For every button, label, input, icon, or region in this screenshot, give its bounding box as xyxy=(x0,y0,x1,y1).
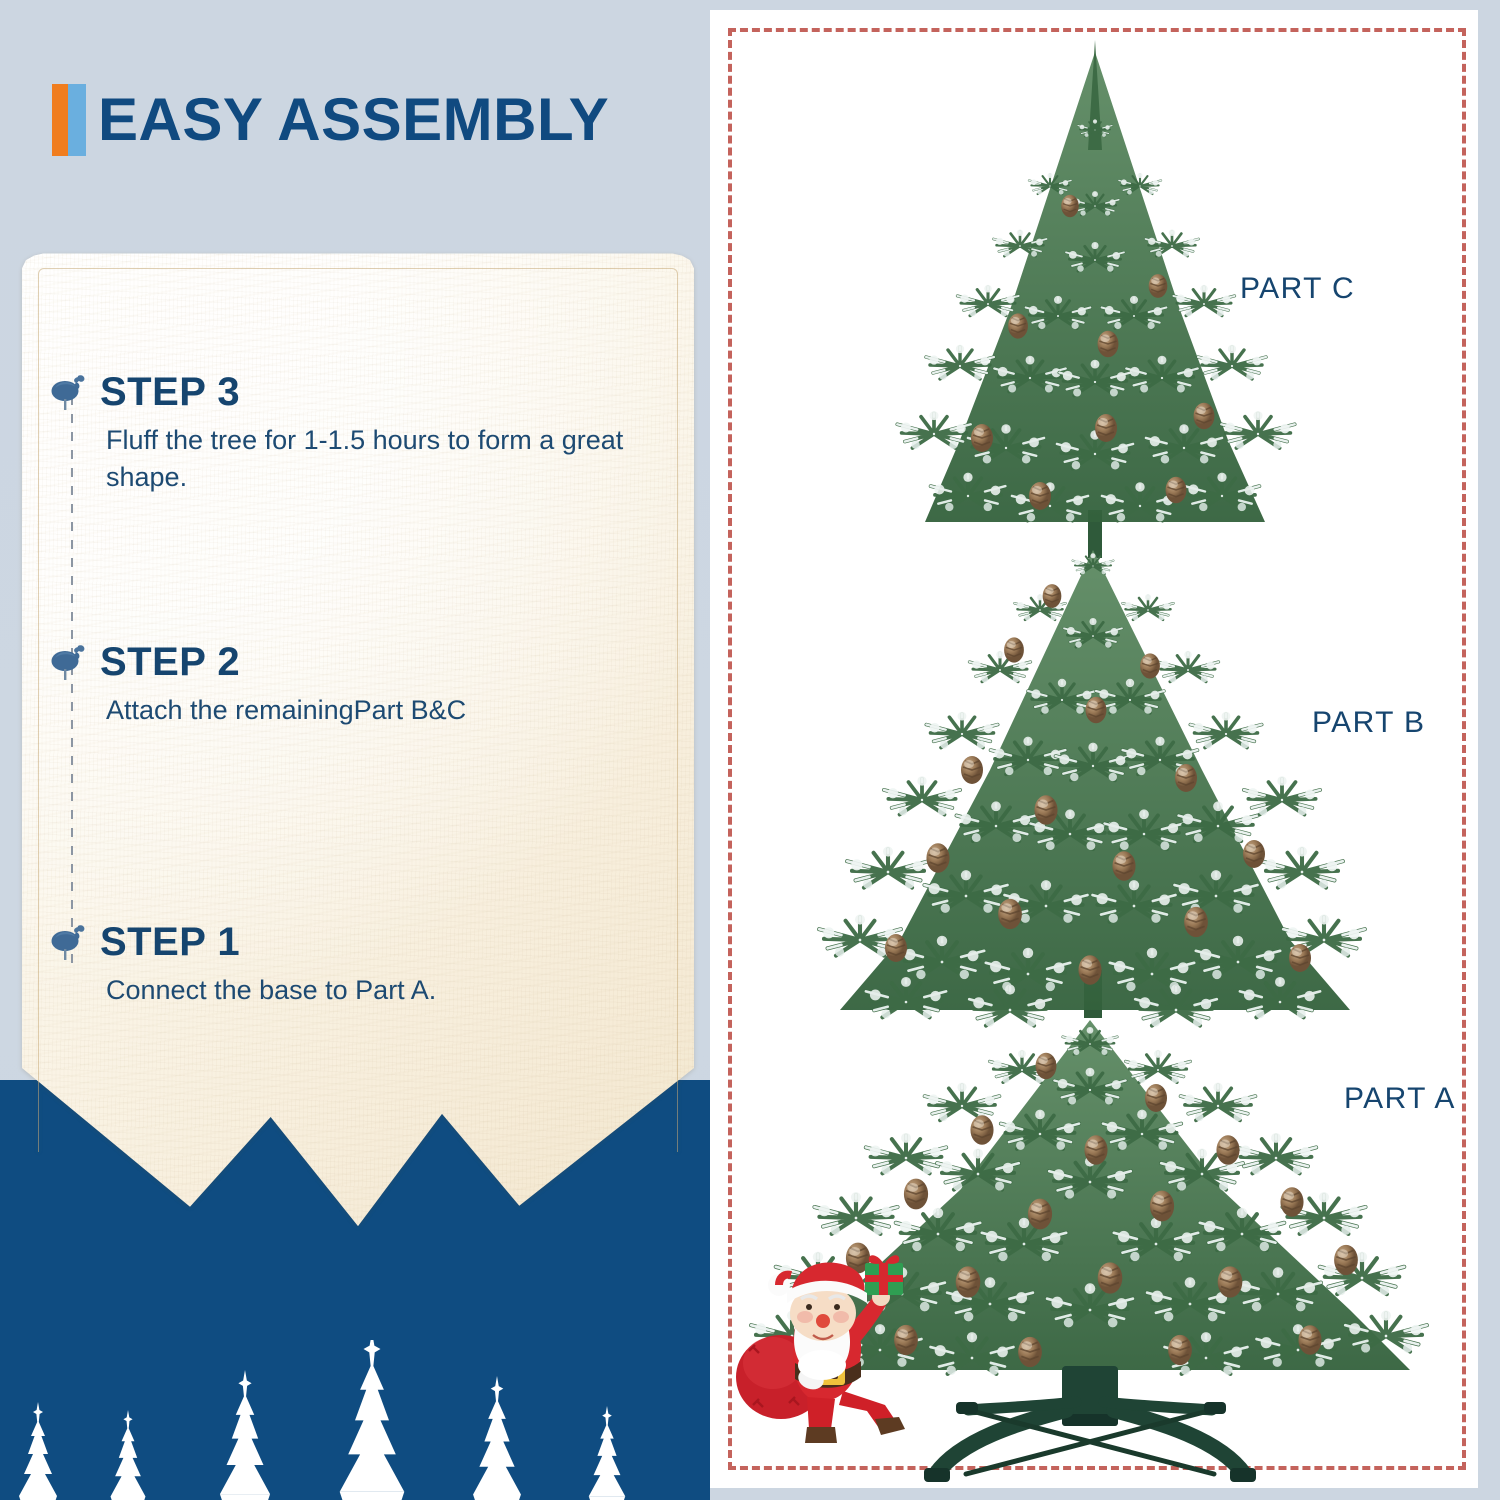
step-2-header: STEP 2 xyxy=(48,638,668,684)
step-1-description: Connect the base to Part A. xyxy=(106,972,668,1009)
step-3-header: STEP 3 xyxy=(48,368,668,414)
bell-marker-icon xyxy=(48,638,92,682)
page-title-row: EASY ASSEMBLY xyxy=(52,84,609,156)
orange-accent-bar xyxy=(52,84,68,156)
page-title: EASY ASSEMBLY xyxy=(98,84,609,156)
step-2-description: Attach the remainingPart B&C xyxy=(106,692,668,729)
part-a-label: PART A xyxy=(1344,1082,1456,1116)
silhouette-tree-row xyxy=(0,1340,710,1500)
tree-part-b xyxy=(819,550,1365,1027)
infographic-stage: EASY ASSEMBLY STEP 3 Flu xyxy=(0,0,1500,1500)
step-3-description: Fluff the tree for 1-1.5 hours to form a… xyxy=(106,422,668,496)
step-1-title: STEP 1 xyxy=(100,920,240,964)
step-item-3: STEP 3 Fluff the tree for 1-1.5 hours to… xyxy=(48,368,668,496)
bell-marker-icon xyxy=(48,918,92,962)
part-b-label: PART B xyxy=(1312,706,1425,740)
blue-accent-bar xyxy=(68,84,86,156)
part-c-label: PART C xyxy=(1240,272,1355,306)
santa-claus-figure xyxy=(735,1251,920,1466)
step-item-1: STEP 1 Connect the base to Part A. xyxy=(48,918,668,1009)
product-image-panel: PART C PART B PART A xyxy=(710,10,1478,1488)
tree-part-c xyxy=(897,40,1294,558)
step-2-title: STEP 2 xyxy=(100,640,240,684)
tree-stand xyxy=(924,1366,1256,1482)
bell-marker-icon xyxy=(48,368,92,412)
step-3-title: STEP 3 xyxy=(100,370,240,414)
left-instruction-panel: EASY ASSEMBLY STEP 3 Flu xyxy=(0,0,710,1500)
step-1-header: STEP 1 xyxy=(48,918,668,964)
step-item-2: STEP 2 Attach the remainingPart B&C xyxy=(48,638,668,729)
